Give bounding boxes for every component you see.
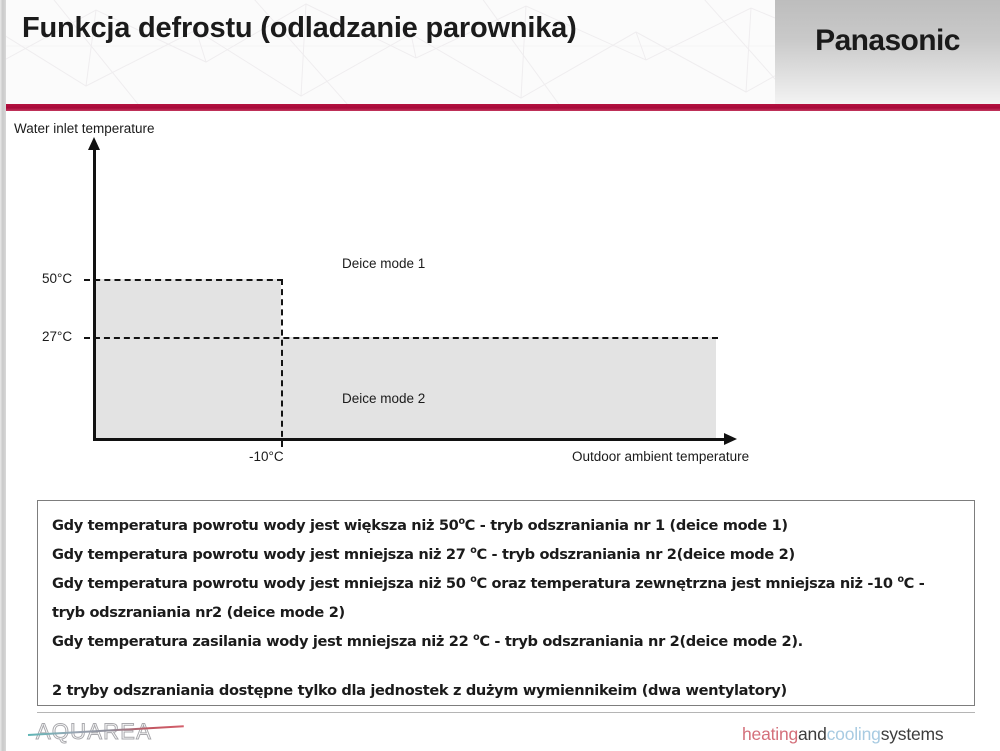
notes-line-3-tail: C - bbox=[904, 575, 925, 592]
tagline-cooling: cooling bbox=[827, 724, 881, 744]
chart-annotation-deice-mode-1: Deice mode 1 bbox=[342, 256, 425, 271]
notes-line-3-pre: Gdy temperatura powrotu wody jest mniejs… bbox=[52, 575, 470, 592]
tagline-heating: heating bbox=[742, 724, 798, 744]
notes-box: Gdy temperatura powrotu wody jest większ… bbox=[37, 500, 975, 706]
notes-line-5-post: C - tryb odszraniania nr 2(deice mode 2)… bbox=[479, 633, 803, 650]
footer-divider bbox=[37, 712, 975, 713]
notes-line-7-pre: 2 tryby odszraniania dostępne tylko dla … bbox=[52, 682, 787, 699]
chart-region-deice-mode-2-warm-side bbox=[281, 337, 716, 440]
chart-y-tick-50c: 50°C bbox=[42, 271, 72, 286]
slide-canvas: Funkcja defrostu (odladzanie parownika) … bbox=[0, 0, 1000, 751]
chart-x-axis-label: Outdoor ambient temperature bbox=[572, 449, 749, 464]
chart-threshold-line-minus10c bbox=[281, 279, 283, 447]
panasonic-logo-panel: Panasonic bbox=[775, 0, 1000, 104]
notes-line-4: tryb odszraniania nr2 (deice mode 2) bbox=[52, 598, 960, 627]
notes-line-4-pre: tryb odszraniania nr2 (deice mode 2) bbox=[52, 604, 345, 621]
footer-tagline: heatingandcoolingsystems bbox=[742, 724, 943, 745]
header-accent-bar bbox=[6, 104, 1000, 111]
notes-line-5: Gdy temperatura zasilania wody jest mnie… bbox=[52, 627, 960, 656]
x-axis-arrow-icon bbox=[724, 433, 737, 445]
notes-line-3: Gdy temperatura powrotu wody jest mniejs… bbox=[52, 569, 960, 598]
deice-mode-chart: Water inlet temperature 50°C 27°C -10°C … bbox=[6, 111, 1000, 491]
tagline-and: and bbox=[798, 724, 827, 744]
notes-line-2-post: C - tryb odszraniania nr 2(deice mode 2) bbox=[476, 546, 794, 563]
chart-region-deice-mode-2-cold-side bbox=[93, 279, 281, 440]
chart-annotation-deice-mode-2: Deice mode 2 bbox=[342, 391, 425, 406]
page-title: Funkcja defrostu (odladzanie parownika) bbox=[22, 12, 577, 45]
chart-threshold-line-27c bbox=[84, 337, 718, 339]
notes-line-1: Gdy temperatura powrotu wody jest większ… bbox=[52, 511, 960, 540]
notes-line-1-pre: Gdy temperatura powrotu wody jest większ… bbox=[52, 517, 458, 534]
panasonic-logo: Panasonic bbox=[775, 24, 1000, 58]
chart-x-axis bbox=[93, 438, 726, 441]
tagline-systems: systems bbox=[881, 724, 944, 744]
chart-x-tick-minus10c: -10°C bbox=[249, 449, 284, 464]
notes-line-3-post: C oraz temperatura zewnętrzna jest mniej… bbox=[476, 575, 897, 592]
notes-line-blank bbox=[52, 656, 960, 676]
chart-y-axis-label: Water inlet temperature bbox=[14, 121, 155, 136]
aquarea-logo: AQUAREA bbox=[28, 719, 188, 747]
y-axis-arrow-icon bbox=[88, 137, 100, 150]
notes-line-2: Gdy temperatura powrotu wody jest mniejs… bbox=[52, 540, 960, 569]
slide-header: Funkcja defrostu (odladzanie parownika) … bbox=[6, 0, 1000, 104]
chart-y-tick-27c: 27°C bbox=[42, 329, 72, 344]
chart-y-axis bbox=[93, 147, 96, 440]
chart-threshold-line-50c bbox=[84, 279, 283, 281]
notes-line-5-pre: Gdy temperatura zasilania wody jest mnie… bbox=[52, 633, 473, 650]
notes-line-7: 2 tryby odszraniania dostępne tylko dla … bbox=[52, 676, 960, 705]
notes-line-2-pre: Gdy temperatura powrotu wody jest mniejs… bbox=[52, 546, 470, 563]
notes-line-1-post: C - tryb odszraniania nr 1 (deice mode 1… bbox=[465, 517, 788, 534]
